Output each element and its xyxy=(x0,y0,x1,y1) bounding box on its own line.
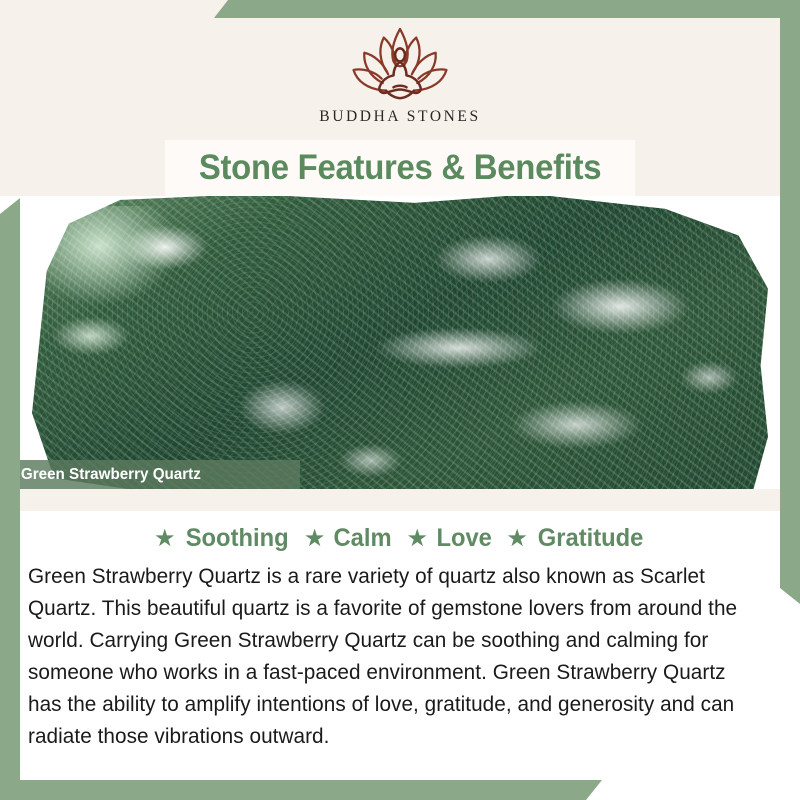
decorative-top-bar xyxy=(214,0,800,18)
photo-caption: Green Strawberry Quartz xyxy=(0,460,300,489)
feature-label: Soothing xyxy=(185,524,288,553)
feature-label: Gratitude xyxy=(538,524,644,553)
decorative-left-bar xyxy=(0,198,20,800)
star-icon: ★ xyxy=(304,527,326,551)
page-title: Stone Features & Benefits xyxy=(199,148,601,188)
decorative-bottom-bar xyxy=(0,780,602,800)
content-section: ★ Soothing ★ Calm ★ Love ★ Gratitude Gre… xyxy=(0,511,800,800)
poster-root: BUDDHA STONES Stone Features & Benefits … xyxy=(0,0,800,800)
feature-item-soothing: ★ Soothing xyxy=(154,524,291,553)
star-icon: ★ xyxy=(406,527,428,551)
header: BUDDHA STONES Stone Features & Benefits xyxy=(0,0,800,196)
feature-label: Calm xyxy=(334,524,392,553)
feature-item-gratitude: ★ Gratitude xyxy=(506,524,646,553)
photo-caption-label: Green Strawberry Quartz xyxy=(0,466,201,484)
decorative-right-bar xyxy=(780,0,800,604)
cream-divider-strip xyxy=(0,489,800,511)
stone-photo: Green Strawberry Quartz xyxy=(0,193,800,489)
star-icon: ★ xyxy=(154,527,176,551)
title-band: Stone Features & Benefits xyxy=(165,140,635,196)
feature-item-calm: ★ Calm xyxy=(304,524,394,553)
star-icon: ★ xyxy=(506,527,528,551)
feature-item-love: ★ Love xyxy=(406,524,493,553)
green-strawberry-quartz-stone-image xyxy=(32,194,768,489)
brand-name: BUDDHA STONES xyxy=(300,108,500,126)
lotus-meditation-icon xyxy=(346,22,454,104)
description-paragraph: Green Strawberry Quartz is a rare variet… xyxy=(28,560,746,752)
stone-highlight xyxy=(47,206,179,307)
brand-logo: BUDDHA STONES xyxy=(300,22,500,126)
feature-label: Love xyxy=(436,524,491,553)
feature-list: ★ Soothing ★ Calm ★ Love ★ Gratitude xyxy=(0,511,800,553)
